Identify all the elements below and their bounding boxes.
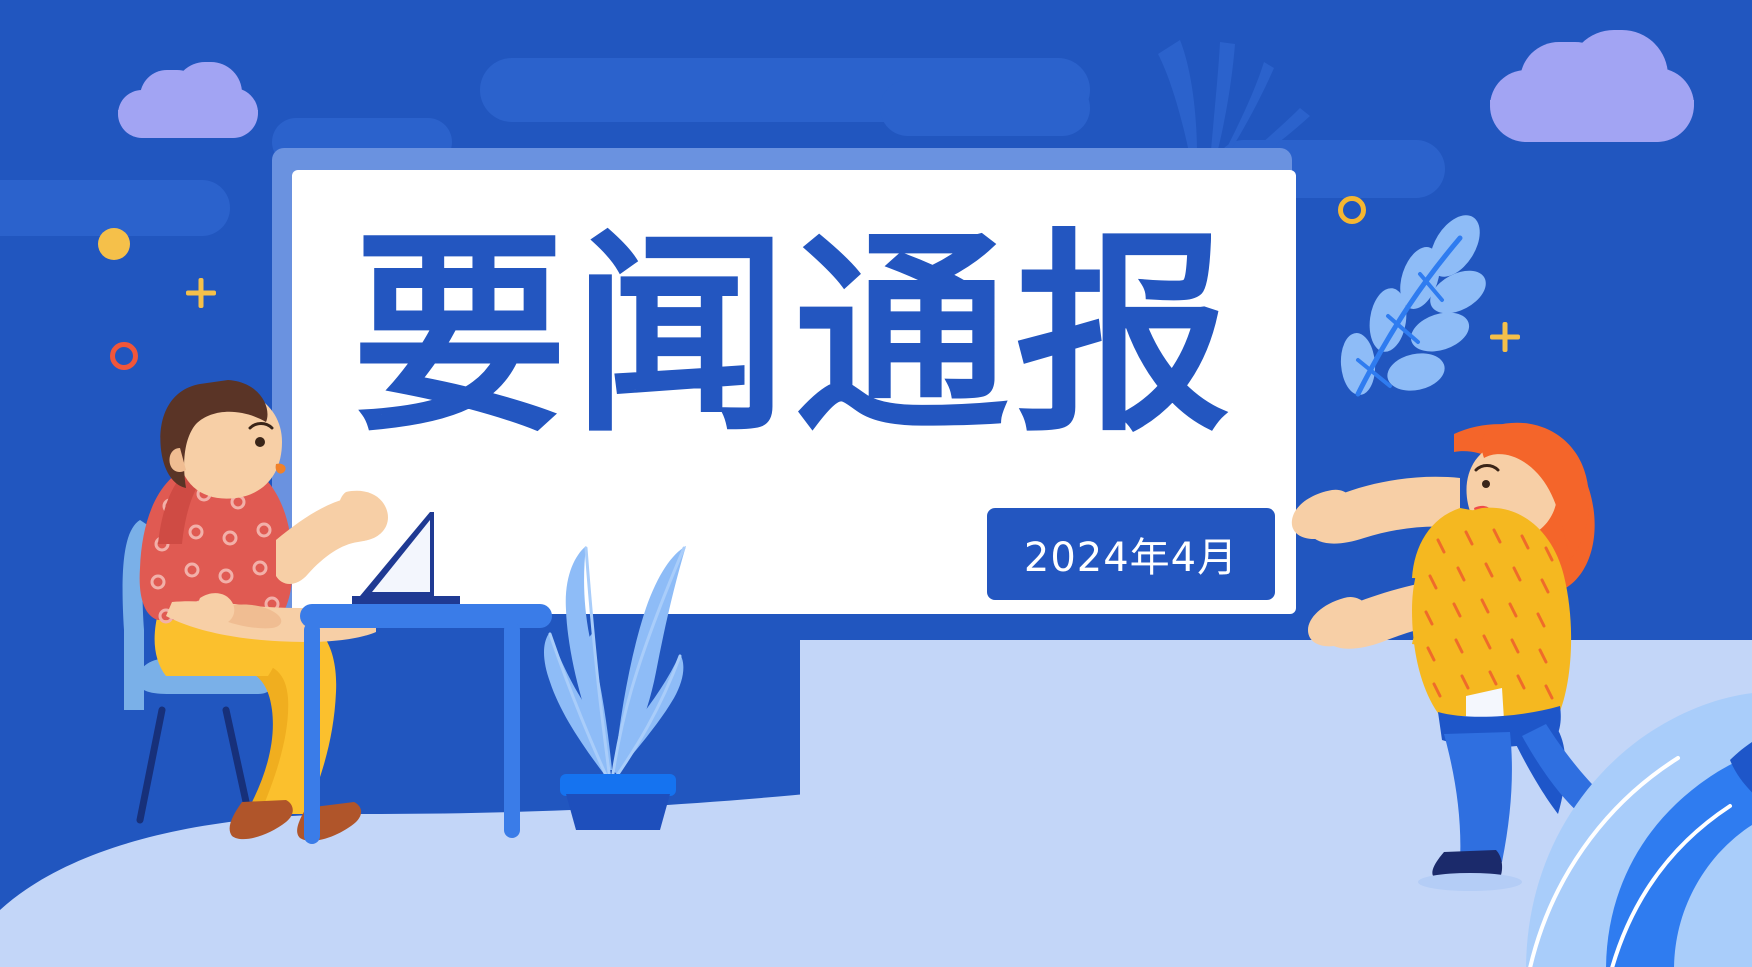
cloud-top-left-icon xyxy=(118,62,258,138)
page-title: 要闻通报 xyxy=(292,170,1296,500)
red-ring-icon xyxy=(110,342,138,370)
leaf-fronds-decor xyxy=(1430,610,1752,967)
bg-blob-3 xyxy=(880,80,1090,136)
yellow-plus-left-icon xyxy=(186,278,216,308)
news-banner: 要闻通报 2024年4月 xyxy=(0,0,1752,967)
leaf-branch-icon xyxy=(1300,216,1500,416)
date-badge: 2024年4月 xyxy=(987,508,1275,600)
potted-plant-illustration xyxy=(520,490,700,830)
cloud-top-right-icon xyxy=(1490,30,1694,142)
yellow-dot-icon xyxy=(98,228,130,260)
